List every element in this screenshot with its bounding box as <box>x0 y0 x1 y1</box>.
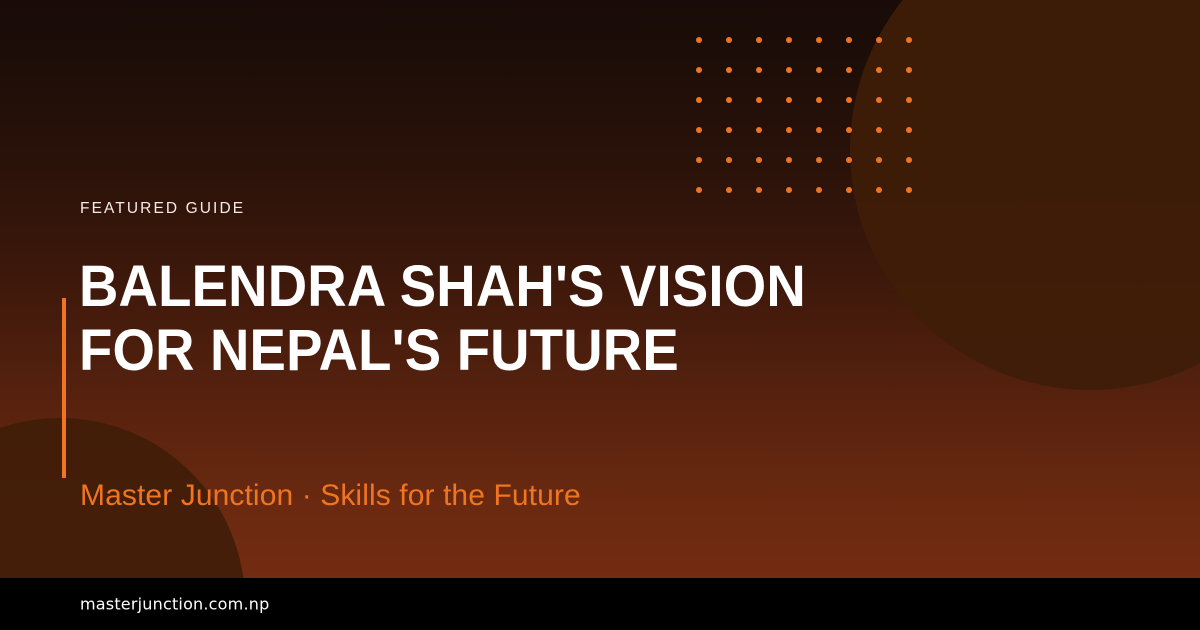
eyebrow-label: FEATURED GUIDE <box>80 200 245 218</box>
page-title: BALENDRA SHAH'S VISION FOR NEPAL'S FUTUR… <box>79 255 906 383</box>
footer-site-url: masterjunction.com.np <box>80 595 269 614</box>
accent-bar <box>62 298 66 478</box>
brand-subtitle: Master Junction · Skills for the Future <box>80 479 581 513</box>
social-share-card: FEATURED GUIDE BALENDRA SHAH'S VISION FO… <box>0 0 1200 630</box>
footer-bar: masterjunction.com.np <box>0 578 1200 630</box>
card-content: FEATURED GUIDE BALENDRA SHAH'S VISION FO… <box>0 0 1200 578</box>
